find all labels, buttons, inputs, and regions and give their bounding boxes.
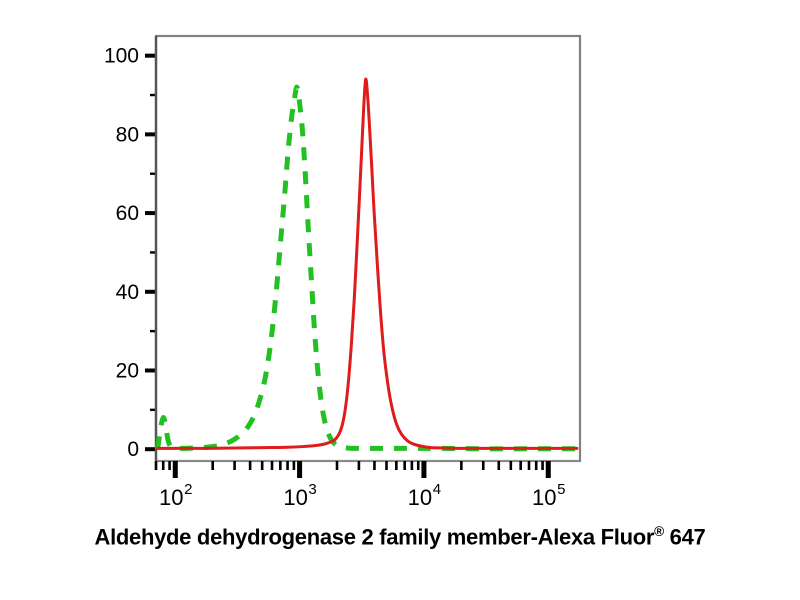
y-tick-label: 80 — [116, 123, 139, 146]
caption-main: Aldehyde dehydrogenase 2 family member-A… — [95, 524, 655, 549]
y-tick-label: 20 — [116, 359, 139, 382]
registered-trademark-icon: ® — [654, 524, 664, 539]
y-tick-label: 60 — [116, 202, 139, 225]
y-tick-label: 100 — [104, 45, 139, 68]
y-tick-label: 0 — [127, 438, 139, 461]
x-tick-exponent: 2 — [184, 481, 192, 498]
x-tick-exponent: 4 — [433, 481, 441, 498]
figure-caption: Aldehyde dehydrogenase 2 family member-A… — [0, 524, 800, 550]
histogram-plot: 020406080100102103104105 — [0, 0, 800, 600]
x-tick-exponent: 3 — [308, 481, 316, 498]
x-tick-exponent: 5 — [557, 481, 565, 498]
x-tick-label: 10 — [532, 485, 556, 510]
series-line-2 — [158, 79, 577, 448]
flow-cytometry-figure: Cell Counts (% Max) 02040608010010210310… — [0, 0, 800, 600]
series-line-1 — [158, 87, 577, 449]
x-tick-label: 10 — [283, 485, 307, 510]
x-tick-label: 10 — [159, 485, 183, 510]
x-tick-label: 10 — [408, 485, 432, 510]
y-tick-label: 40 — [116, 281, 139, 304]
caption-suffix: 647 — [664, 524, 706, 549]
